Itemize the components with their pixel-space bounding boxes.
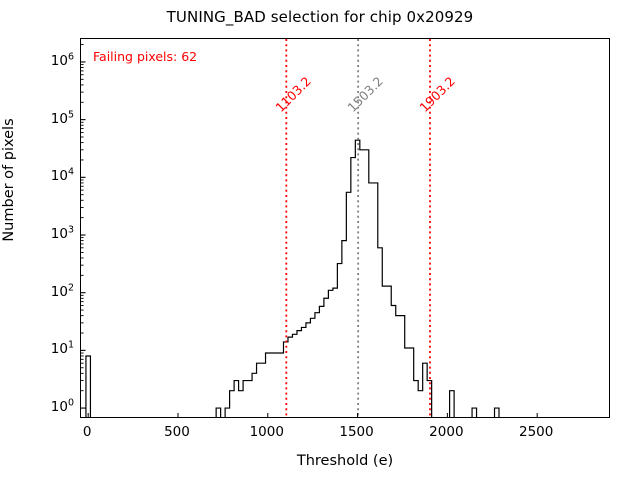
histogram-plot (81, 39, 609, 417)
x-tick-label: 1500 (339, 424, 373, 440)
x-tick-label: 1000 (250, 424, 284, 440)
failing-pixels-note: Failing pixels: 62 (93, 49, 197, 64)
chart-title: TUNING_BAD selection for chip 0x20929 (0, 8, 640, 26)
x-tick-label: 2500 (519, 424, 553, 440)
y-tick-label: 106 (51, 53, 74, 69)
figure-canvas: TUNING_BAD selection for chip 0x20929 Fa… (0, 0, 640, 480)
y-tick-label: 100 (51, 399, 74, 415)
x-tick-label: 500 (164, 424, 190, 440)
y-tick-label: 105 (51, 111, 74, 127)
x-tick-label: 0 (83, 424, 92, 440)
y-tick-label: 102 (51, 284, 74, 300)
y-tick-label: 101 (51, 341, 74, 357)
plot-area: Failing pixels: 62 (80, 38, 610, 418)
y-axis-label: Number of pixels (1, 20, 17, 340)
y-tick-label: 103 (51, 226, 74, 242)
x-axis-label: Threshold (e) (80, 453, 610, 469)
histogram-outline (86, 140, 499, 417)
y-tick-label: 104 (51, 168, 74, 184)
x-tick-label: 2000 (429, 424, 463, 440)
